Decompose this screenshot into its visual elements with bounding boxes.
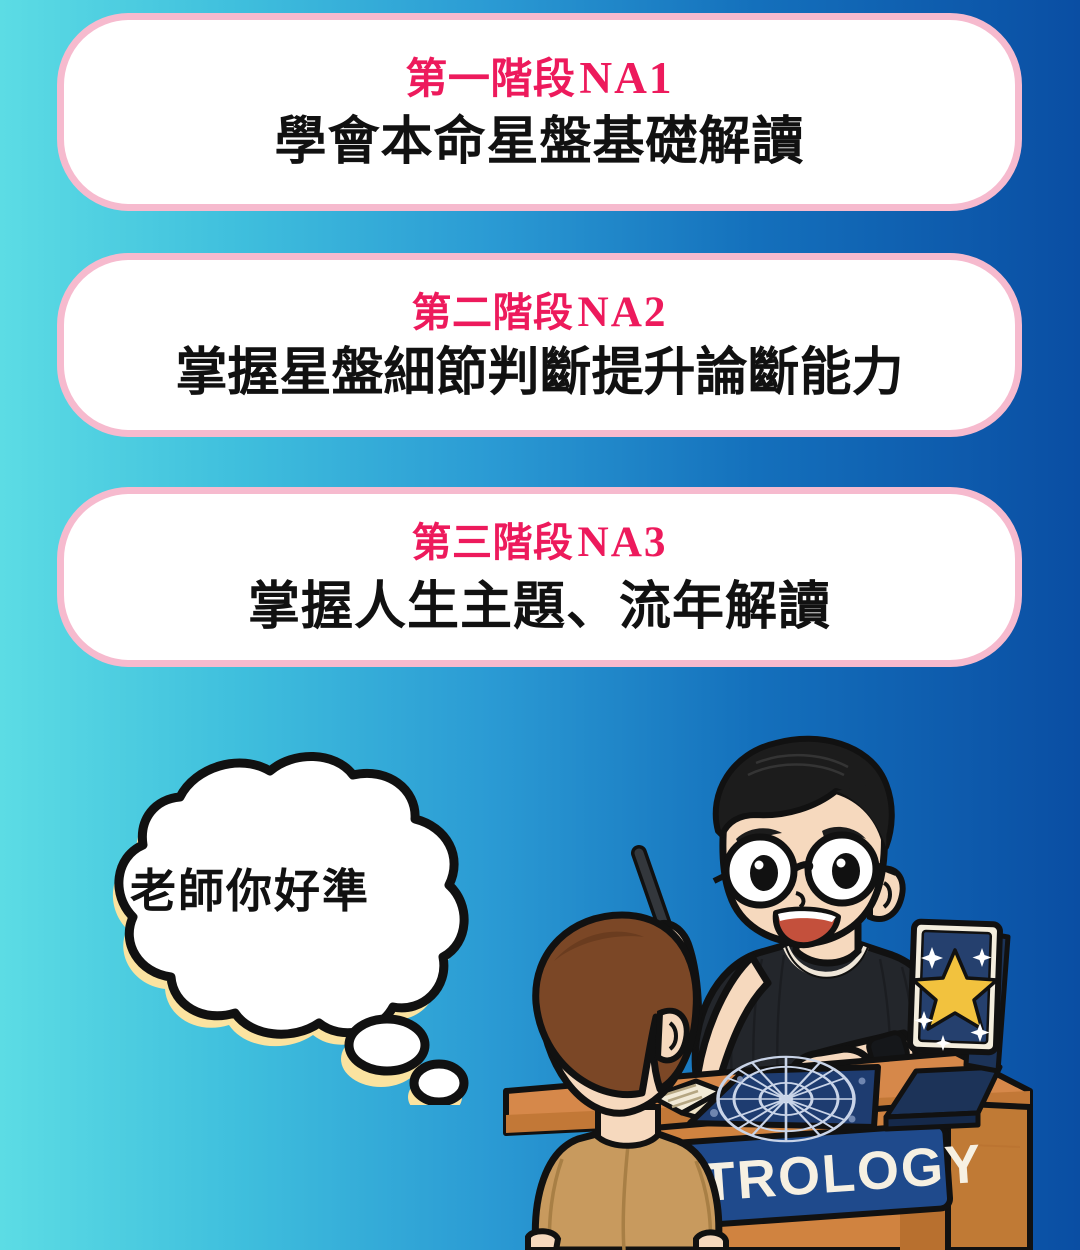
stage-card-1-code: NA1 bbox=[579, 53, 673, 103]
stage-card-2-description: 掌握星盤細節判斷提升論斷能力 bbox=[175, 347, 903, 399]
stage-card-3-stage: 第三階段 bbox=[412, 521, 574, 565]
stage-card-1-description: 學會本命星盤基礎解讀 bbox=[274, 116, 804, 168]
stage-card-3[interactable]: 第三階段NA3 掌握人生主題、流年解讀 bbox=[57, 487, 1022, 667]
stage-card-1-label: 第一階段NA1 bbox=[405, 56, 673, 101]
stage-card-3-description: 掌握人生主題、流年解讀 bbox=[248, 581, 831, 633]
stage-card-3-code: NA3 bbox=[578, 519, 668, 566]
stage-card-2-stage: 第二階段 bbox=[412, 291, 574, 335]
stage-card-1[interactable]: 第一階段NA1 學會本命星盤基礎解讀 bbox=[57, 13, 1022, 211]
stage-card-2[interactable]: 第二階段NA2 掌握星盤細節判斷提升論斷能力 bbox=[57, 253, 1022, 437]
thought-bubble-text: 老師你好準 bbox=[130, 855, 370, 921]
teacher-head bbox=[714, 739, 903, 945]
astrology-lesson-illustration: ASTROLOGY bbox=[500, 735, 1080, 1250]
stage-card-2-code: NA2 bbox=[578, 289, 668, 336]
stage-card-3-label: 第三階段NA3 bbox=[412, 521, 668, 564]
bubble-body bbox=[119, 756, 464, 1102]
stage-card-1-stage: 第一階段 bbox=[405, 55, 575, 102]
tarot-card bbox=[910, 922, 1008, 1071]
stage-card-2-label: 第二階段NA2 bbox=[412, 291, 668, 334]
thought-bubble bbox=[35, 745, 505, 1105]
zodiac-wheel-icon bbox=[718, 1057, 854, 1141]
